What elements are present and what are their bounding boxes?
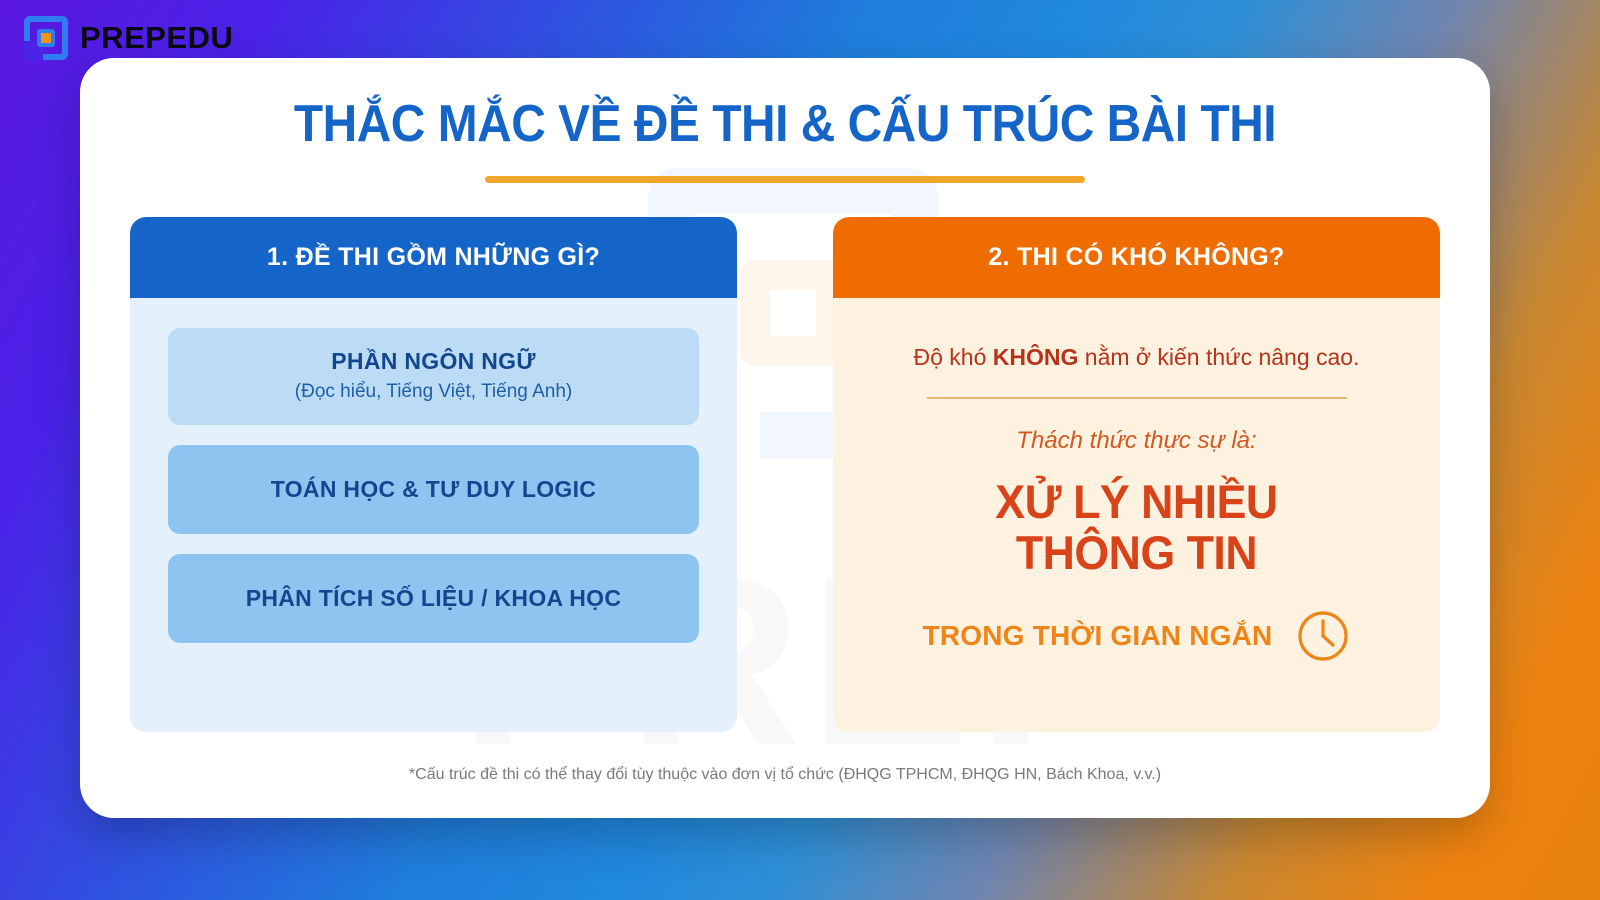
highlight-line-1: XỬ LÝ NHIỀU bbox=[884, 477, 1388, 528]
note-emphasis: KHÔNG bbox=[993, 344, 1079, 370]
note-divider bbox=[927, 397, 1347, 399]
brand-name: PREPEDU bbox=[80, 20, 233, 56]
panels-row: 1. ĐỀ THI GỒM NHỮNG GÌ? PHẦN NGÔN NGỮ (Đ… bbox=[80, 183, 1490, 732]
item-title: TOÁN HỌC & TƯ DUY LOGIC bbox=[182, 476, 685, 503]
time-constraint-text: TRONG THỜI GIAN NGẮN bbox=[923, 620, 1273, 652]
prep-square-logo-icon bbox=[24, 16, 68, 60]
item-subtitle: (Đọc hiểu, Tiếng Việt, Tiếng Anh) bbox=[182, 381, 685, 403]
item-title: PHÂN TÍCH SỐ LIỆU / KHOA HỌC bbox=[182, 585, 685, 612]
list-item: PHẦN NGÔN NGỮ (Đọc hiểu, Tiếng Việt, Tiế… bbox=[168, 328, 699, 425]
challenge-highlight: XỬ LÝ NHIỀU THÔNG TIN bbox=[884, 477, 1388, 579]
brand-logo: PREPEDU bbox=[24, 16, 233, 60]
note-after: nằm ở kiến thức nâng cao. bbox=[1078, 344, 1359, 370]
page-title: THẮC MẮC VỀ ĐỀ THI & CẤU TRÚC BÀI THI bbox=[136, 58, 1433, 154]
difficulty-note: Độ khó KHÔNG nằm ở kiến thức nâng cao. bbox=[871, 328, 1402, 371]
highlight-line-2: THÔNG TIN bbox=[884, 528, 1388, 579]
list-item: PHÂN TÍCH SỐ LIỆU / KHOA HỌC bbox=[168, 554, 699, 643]
item-title: PHẦN NGÔN NGỮ bbox=[182, 348, 685, 375]
panel-left-header: 1. ĐỀ THI GỒM NHỮNG GÌ? bbox=[130, 217, 737, 298]
panel-right-body: Độ khó KHÔNG nằm ở kiến thức nâng cao. T… bbox=[833, 298, 1440, 732]
footnote: *Cấu trúc đề thi có thể thay đổi tùy thu… bbox=[80, 766, 1490, 784]
panel-right-header: 2. THI CÓ KHÓ KHÔNG? bbox=[833, 217, 1440, 298]
panel-left-body: PHẦN NGÔN NGỮ (Đọc hiểu, Tiếng Việt, Tiế… bbox=[130, 298, 737, 732]
list-item: TOÁN HỌC & TƯ DUY LOGIC bbox=[168, 445, 699, 534]
title-divider bbox=[485, 176, 1085, 183]
content-card: PREP THẮC MẮC VỀ ĐỀ THI & CẤU TRÚC BÀI T… bbox=[80, 58, 1490, 818]
panel-difficulty: 2. THI CÓ KHÓ KHÔNG? Độ khó KHÔNG nằm ở … bbox=[833, 217, 1440, 732]
time-constraint-row: TRONG THỜI GIAN NGẮN bbox=[871, 609, 1402, 663]
challenge-lead: Thách thức thực sự là: bbox=[871, 427, 1402, 455]
note-before: Độ khó bbox=[914, 344, 993, 370]
clock-icon bbox=[1296, 609, 1350, 663]
panel-exam-content: 1. ĐỀ THI GỒM NHỮNG GÌ? PHẦN NGÔN NGỮ (Đ… bbox=[130, 217, 737, 732]
